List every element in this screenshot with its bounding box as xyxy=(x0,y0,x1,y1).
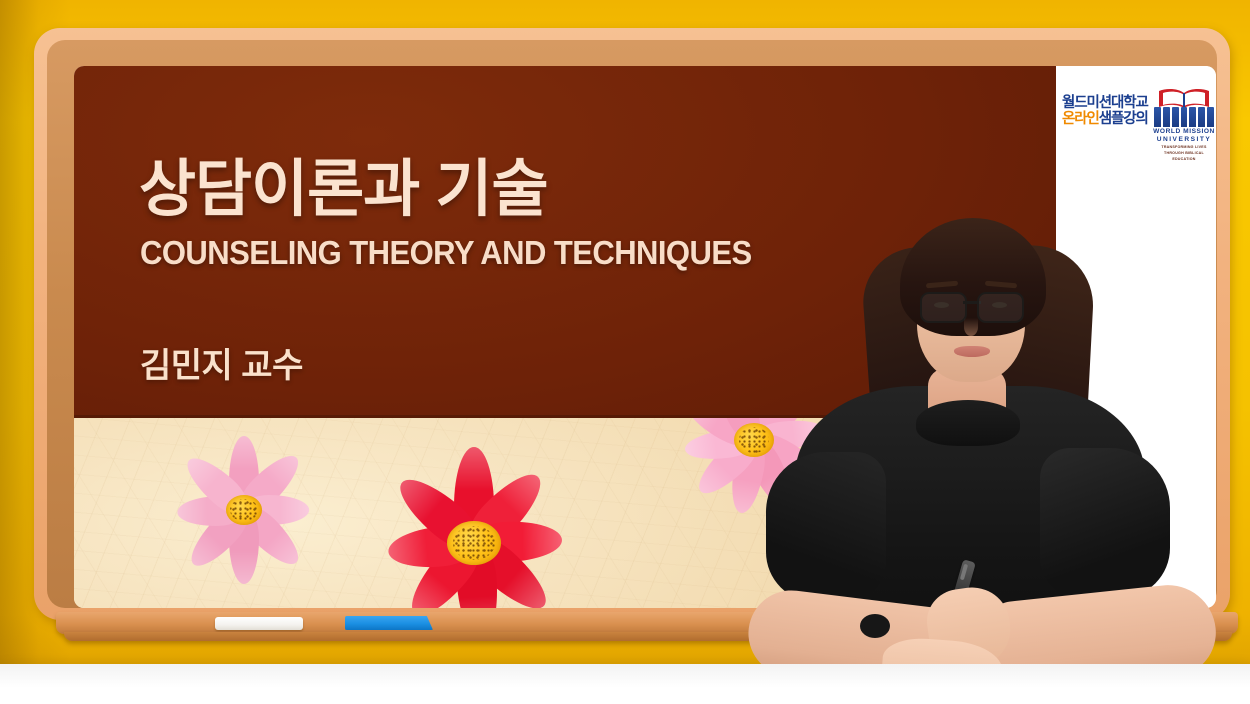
white-marker[interactable] xyxy=(215,617,303,630)
slide-title-korean: 상담이론과 기술 xyxy=(139,138,548,228)
shoulder-right xyxy=(1040,448,1170,598)
glasses-lens-right xyxy=(977,292,1024,323)
lecture-video-frame: World Mission University 상담이론과 기술 COUNSE… xyxy=(0,0,1250,704)
slide-subtitle-english: COUNSELING THEORY AND TECHNIQUES xyxy=(140,234,752,272)
nose xyxy=(964,318,978,336)
logo-korean-highlight: 온라인 xyxy=(1062,111,1099,127)
logo-wordmark-line-1: WORLD MISSION xyxy=(1153,128,1215,136)
slide-presenter-name: 김민지 교수 xyxy=(140,338,303,387)
university-logo-mark: WORLD MISSION UNIVERSITY TRANSFORMING LI… xyxy=(1150,88,1216,152)
mouth xyxy=(954,346,990,357)
logo-wordmark-line-2: UNIVERSITY xyxy=(1153,136,1215,144)
university-logo: 월드미션대학교 온라인샘플강의 xyxy=(1062,86,1212,152)
logo-pillars-icon xyxy=(1154,107,1214,127)
glasses-lens-left xyxy=(920,292,967,323)
glasses-icon xyxy=(920,292,1024,320)
logo-wordmark: WORLD MISSION UNIVERSITY TRANSFORMING LI… xyxy=(1153,128,1215,162)
presenter-person xyxy=(740,200,1250,704)
open-book-icon xyxy=(1158,88,1210,108)
sleeve-cuff xyxy=(860,614,890,638)
shoulder-left xyxy=(766,452,886,602)
logo-korean-line-2: 온라인샘플강의 xyxy=(1062,112,1152,128)
university-logo-korean-text: 월드미션대학교 온라인샘플강의 xyxy=(1062,96,1152,127)
logo-wordmark-tagline: TRANSFORMING LIVES THROUGH BIBLICAL EDUC… xyxy=(1153,144,1215,162)
blue-marker[interactable] xyxy=(345,616,433,630)
logo-korean-line-1: 월드미션대학교 xyxy=(1062,96,1152,112)
logo-korean-rest: 샘플강의 xyxy=(1099,111,1148,127)
desk-front-edge xyxy=(0,664,1250,704)
shirt-collar xyxy=(916,400,1020,446)
